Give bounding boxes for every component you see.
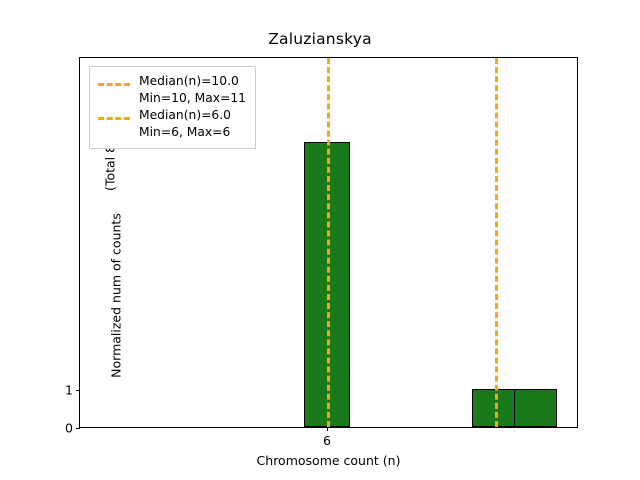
dashed-line-icon [98, 110, 130, 123]
median-line-n10 [495, 58, 498, 427]
legend-label-0: Median(n)=10.0 Min=10, Max=11 [139, 73, 246, 106]
legend-label-1-line1: Median(n)=6.0 [139, 108, 231, 122]
ytick-mark-0 [76, 428, 80, 429]
median-line-n6 [327, 58, 330, 427]
legend: Median(n)=10.0 Min=10, Max=11 Median(n)=… [89, 66, 256, 149]
bar-n11 [514, 389, 557, 427]
xtick-label-6: 6 [323, 433, 331, 448]
matplotlib-figure: Zaluzianskya 6 0 1 Normalized num of cou… [0, 0, 640, 480]
legend-entry-1: Median(n)=6.0 Min=6, Max=6 [98, 107, 246, 140]
legend-label-0-line1: Median(n)=10.0 [139, 74, 239, 88]
legend-label-0-line2: Min=10, Max=11 [139, 90, 246, 107]
plot-axes: 6 0 1 Normalized num of counts (Total 8)… [79, 57, 578, 428]
ytick-label-1: 1 [65, 383, 73, 398]
legend-entry-0: Median(n)=10.0 Min=10, Max=11 [98, 73, 246, 106]
x-axis-label: Chromosome count (n) [79, 453, 578, 468]
legend-label-1: Median(n)=6.0 Min=6, Max=6 [139, 107, 231, 140]
page-title: Zaluzianskya [0, 30, 640, 48]
xtick-mark-6 [327, 427, 328, 431]
ytick-label-0: 0 [65, 420, 73, 435]
bar-n10 [472, 389, 515, 427]
ytick-mark-1 [76, 390, 80, 391]
dashed-line-icon [98, 76, 130, 89]
legend-label-1-line2: Min=6, Max=6 [139, 124, 231, 141]
